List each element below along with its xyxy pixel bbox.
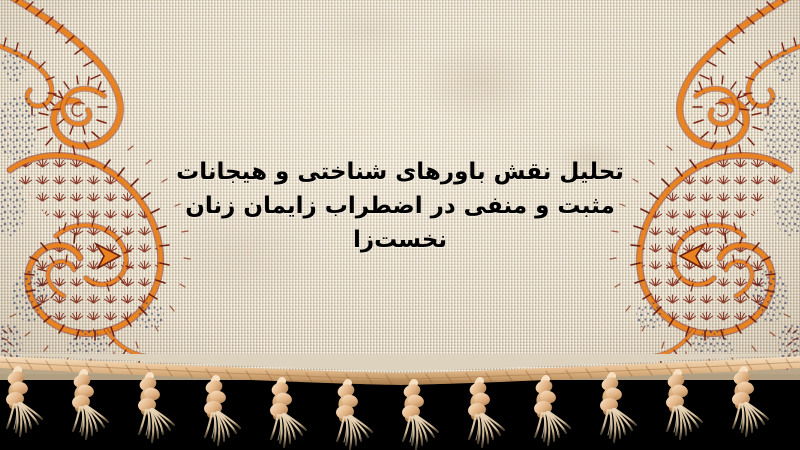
knotted-tassel-fringe — [0, 354, 800, 450]
slide-title: تحلیل نقش باورهای شناختی و هیجانات مثبت … — [0, 155, 800, 257]
title-line-1: تحلیل نقش باورهای شناختی و هیجانات — [0, 155, 800, 189]
title-line-3: نخست‌زا — [0, 223, 800, 257]
slide-canvas: تحلیل نقش باورهای شناختی و هیجانات مثبت … — [0, 0, 800, 450]
title-line-2: مثبت و منفی در اضطراب زایمان زنان — [0, 189, 800, 223]
